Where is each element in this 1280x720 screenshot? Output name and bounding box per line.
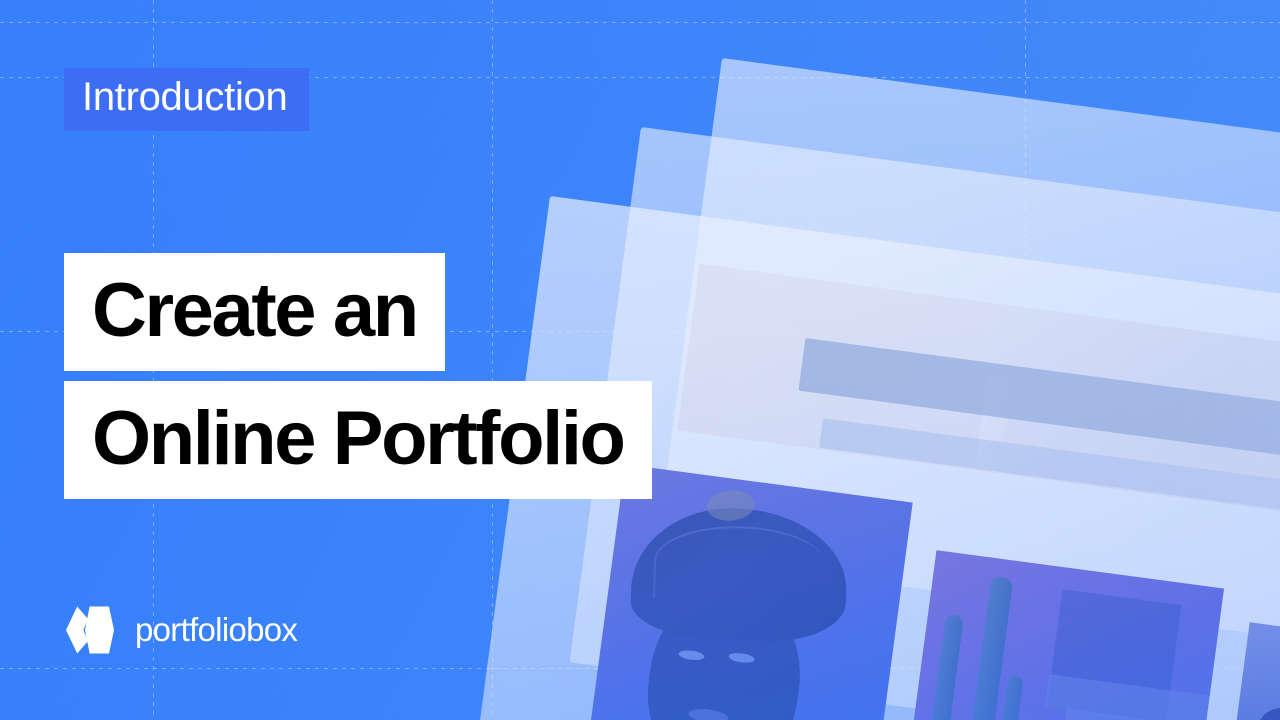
thumbnail-cacti-pink-wall (907, 550, 1224, 720)
page-title-line-2: Online Portfolio (64, 381, 652, 499)
brand-logo: portfoliobox (64, 605, 297, 655)
page-title: Create an Online Portfolio (64, 253, 652, 499)
thumbnail-portrait-woman-headwrap (578, 464, 913, 720)
page-title-line-1: Create an (64, 253, 445, 371)
portfoliobox-chevron-mark (64, 605, 116, 655)
thumbnail-cyclists-race (1210, 622, 1280, 720)
slide-canvas: Introduction Create an Online Portfolio … (0, 0, 1280, 720)
blue-overlay-tint (907, 550, 1224, 720)
blue-overlay-tint (578, 464, 913, 720)
brand-wordmark: portfoliobox (135, 611, 297, 649)
blue-overlay-tint (1210, 622, 1280, 720)
section-badge: Introduction (64, 68, 309, 131)
